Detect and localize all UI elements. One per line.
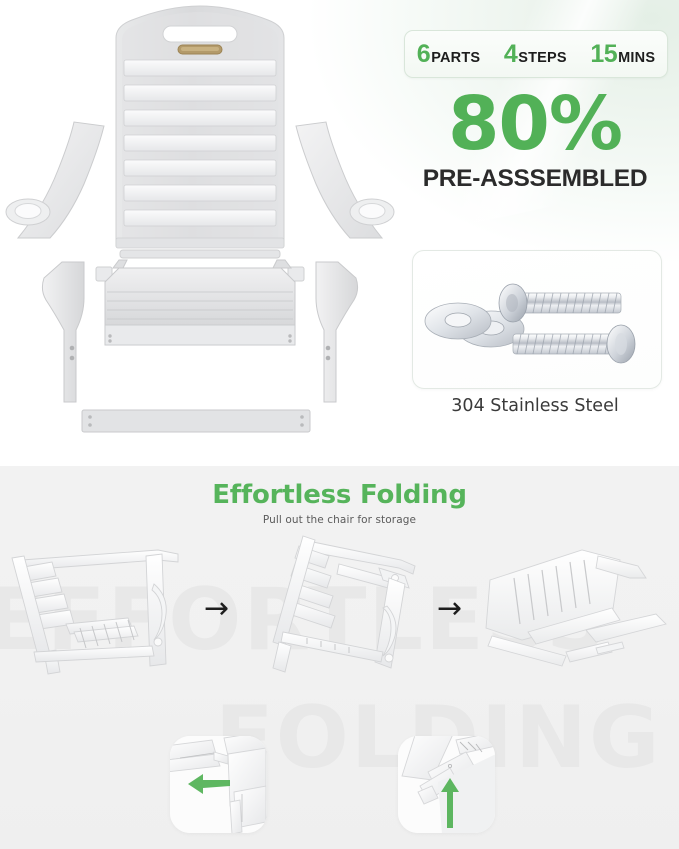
hardware-illustration [413, 251, 661, 388]
badge-number-steps: 4 [504, 40, 517, 69]
folding-subtitle: Pull out the chair for storage [0, 514, 679, 526]
pre-assembled-block: 80% PRE-ASSSEMBLED [404, 88, 666, 193]
badge-number-mins: 15 [590, 40, 617, 69]
right-armrest [296, 122, 394, 238]
step-arrow-1: → [204, 594, 229, 624]
folding-step-chair-half-folded [255, 534, 435, 689]
folding-step-chair-folded-flat [470, 544, 675, 689]
badge-item-mins: 15 MINS [590, 40, 655, 69]
bolt-icon [499, 284, 621, 322]
washer-icon [425, 303, 491, 339]
badge-item-steps: 4 STEPS [504, 40, 567, 69]
top-section: 6 PARTS 4 STEPS 15 MINS 80% PRE-ASSSEMBL… [0, 0, 679, 466]
folding-title: Effortless Folding [0, 480, 679, 510]
exploded-chair-diagram [0, 0, 400, 460]
left-armrest [6, 122, 104, 238]
top-cross-brace [120, 250, 280, 258]
inset-pull-latch-detail [170, 736, 267, 833]
right-leg [316, 262, 358, 402]
hardware-caption: 304 Stainless Steel [404, 396, 666, 416]
badge-number-parts: 6 [417, 40, 430, 69]
seat-assembly [105, 260, 295, 345]
step-arrow-2: → [437, 594, 462, 624]
inset-lift-leg-detail [398, 736, 495, 833]
backrest-panel [116, 6, 284, 248]
effortless-folding-section: EFFORTLESS FOLDING Effortless Folding Pu… [0, 466, 679, 849]
hardware-box [412, 250, 662, 389]
infographic-page: 6 PARTS 4 STEPS 15 MINS 80% PRE-ASSSEMBL… [0, 0, 679, 849]
parts-steps-mins-badge: 6 PARTS 4 STEPS 15 MINS [404, 30, 668, 78]
badge-unit-parts: PARTS [431, 50, 480, 66]
percent-label: PRE-ASSSEMBLED [404, 165, 666, 193]
left-leg [42, 262, 84, 402]
front-brace [82, 410, 310, 432]
folding-step-chair-unfolded [8, 536, 198, 686]
badge-unit-steps: STEPS [518, 50, 567, 66]
badge-item-parts: 6 PARTS [417, 40, 480, 69]
percent-value: 80% [404, 88, 666, 161]
badge-unit-mins: MINS [618, 50, 655, 66]
bolt-icon [513, 325, 635, 363]
